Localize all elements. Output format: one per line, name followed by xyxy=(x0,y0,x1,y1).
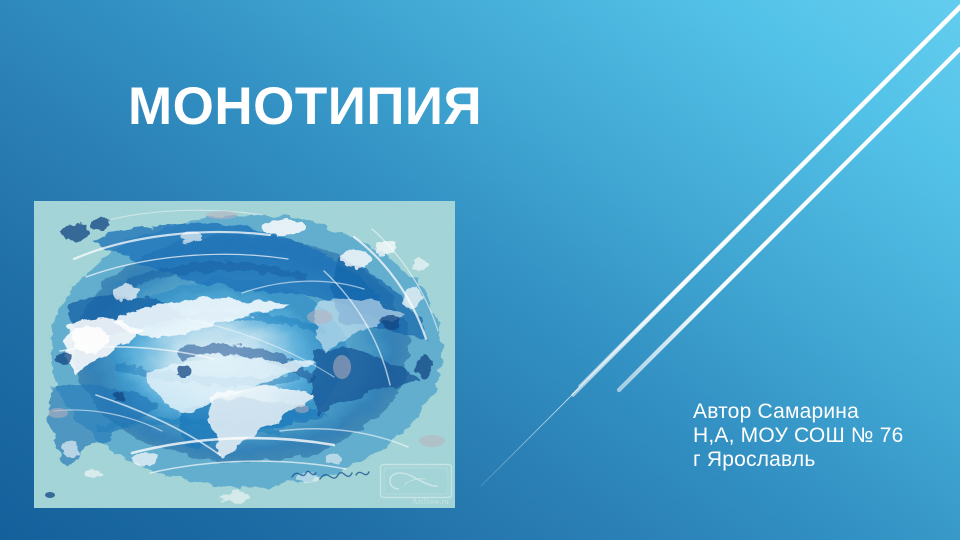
slide-canvas: МОНОТИПИЯ xyxy=(0,0,960,540)
author-line-3: г Ярославль xyxy=(693,448,903,472)
streak-thick xyxy=(619,49,960,390)
streak-thin xyxy=(579,5,960,386)
author-text-block: Автор СамаринаН,А, МОУ СОШ № 76г Ярослав… xyxy=(693,400,903,472)
artwork-illustration xyxy=(34,201,455,508)
slide-title: МОНОТИПИЯ xyxy=(128,79,482,135)
streak-medium xyxy=(573,8,960,395)
author-line-2: Н,А, МОУ СОШ № 76 xyxy=(693,424,903,448)
artnow-watermark-label: ArtNow.ru xyxy=(412,497,449,506)
artwork-image: ArtNow.ru xyxy=(34,201,455,508)
author-line-1: Автор Самарина xyxy=(693,400,903,424)
